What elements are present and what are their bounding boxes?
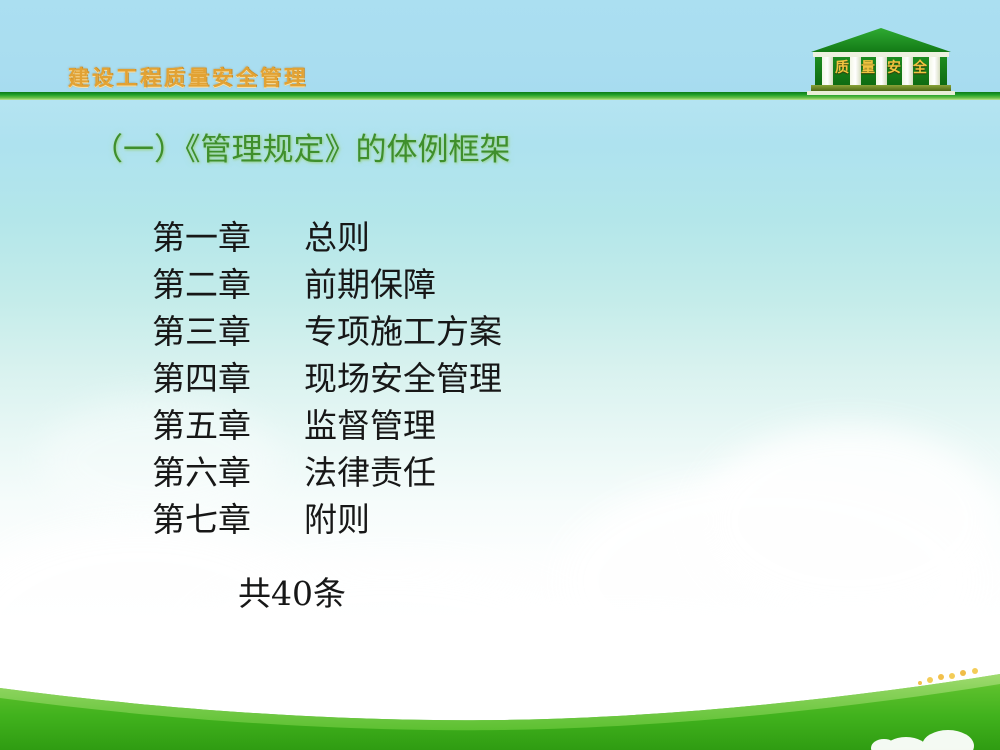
header-title: 建设工程质量安全管理	[68, 62, 308, 92]
chapter-name: 附则	[304, 496, 370, 543]
chapter-number: 第六章	[152, 449, 304, 496]
slide-canvas: 建设工程质量安全管理	[0, 0, 1000, 750]
quality-safety-temple-logo: 质量安全	[805, 26, 957, 96]
grass-field-illustration	[0, 640, 1000, 750]
chapter-number: 第三章	[152, 308, 304, 355]
chapter-number: 第一章	[152, 214, 304, 261]
chapter-name: 监督管理	[304, 402, 436, 449]
list-item: 第五章监督管理	[152, 402, 772, 449]
chapter-list: 第一章总则 第二章前期保障 第三章专项施工方案 第四章现场安全管理 第五章监督管…	[152, 214, 772, 543]
chapter-name: 专项施工方案	[304, 308, 502, 355]
list-item: 第三章专项施工方案	[152, 308, 772, 355]
chapter-name: 前期保障	[304, 261, 436, 308]
list-item: 第二章前期保障	[152, 261, 772, 308]
list-item: 第一章总则	[152, 214, 772, 261]
list-item: 第六章法律责任	[152, 449, 772, 496]
chapter-name: 总则	[304, 214, 370, 261]
chapter-number: 第二章	[152, 261, 304, 308]
total-articles-text: 共40条	[238, 570, 346, 617]
chapter-name: 现场安全管理	[304, 355, 502, 402]
chapter-number: 第五章	[152, 402, 304, 449]
list-item: 第七章附则	[152, 496, 772, 543]
chapter-number: 第四章	[152, 355, 304, 402]
list-item: 第四章现场安全管理	[152, 355, 772, 402]
page-title: （一）《管理规定》的体例框架	[92, 124, 511, 169]
chapter-name: 法律责任	[304, 449, 436, 496]
chapter-number: 第七章	[152, 496, 304, 543]
